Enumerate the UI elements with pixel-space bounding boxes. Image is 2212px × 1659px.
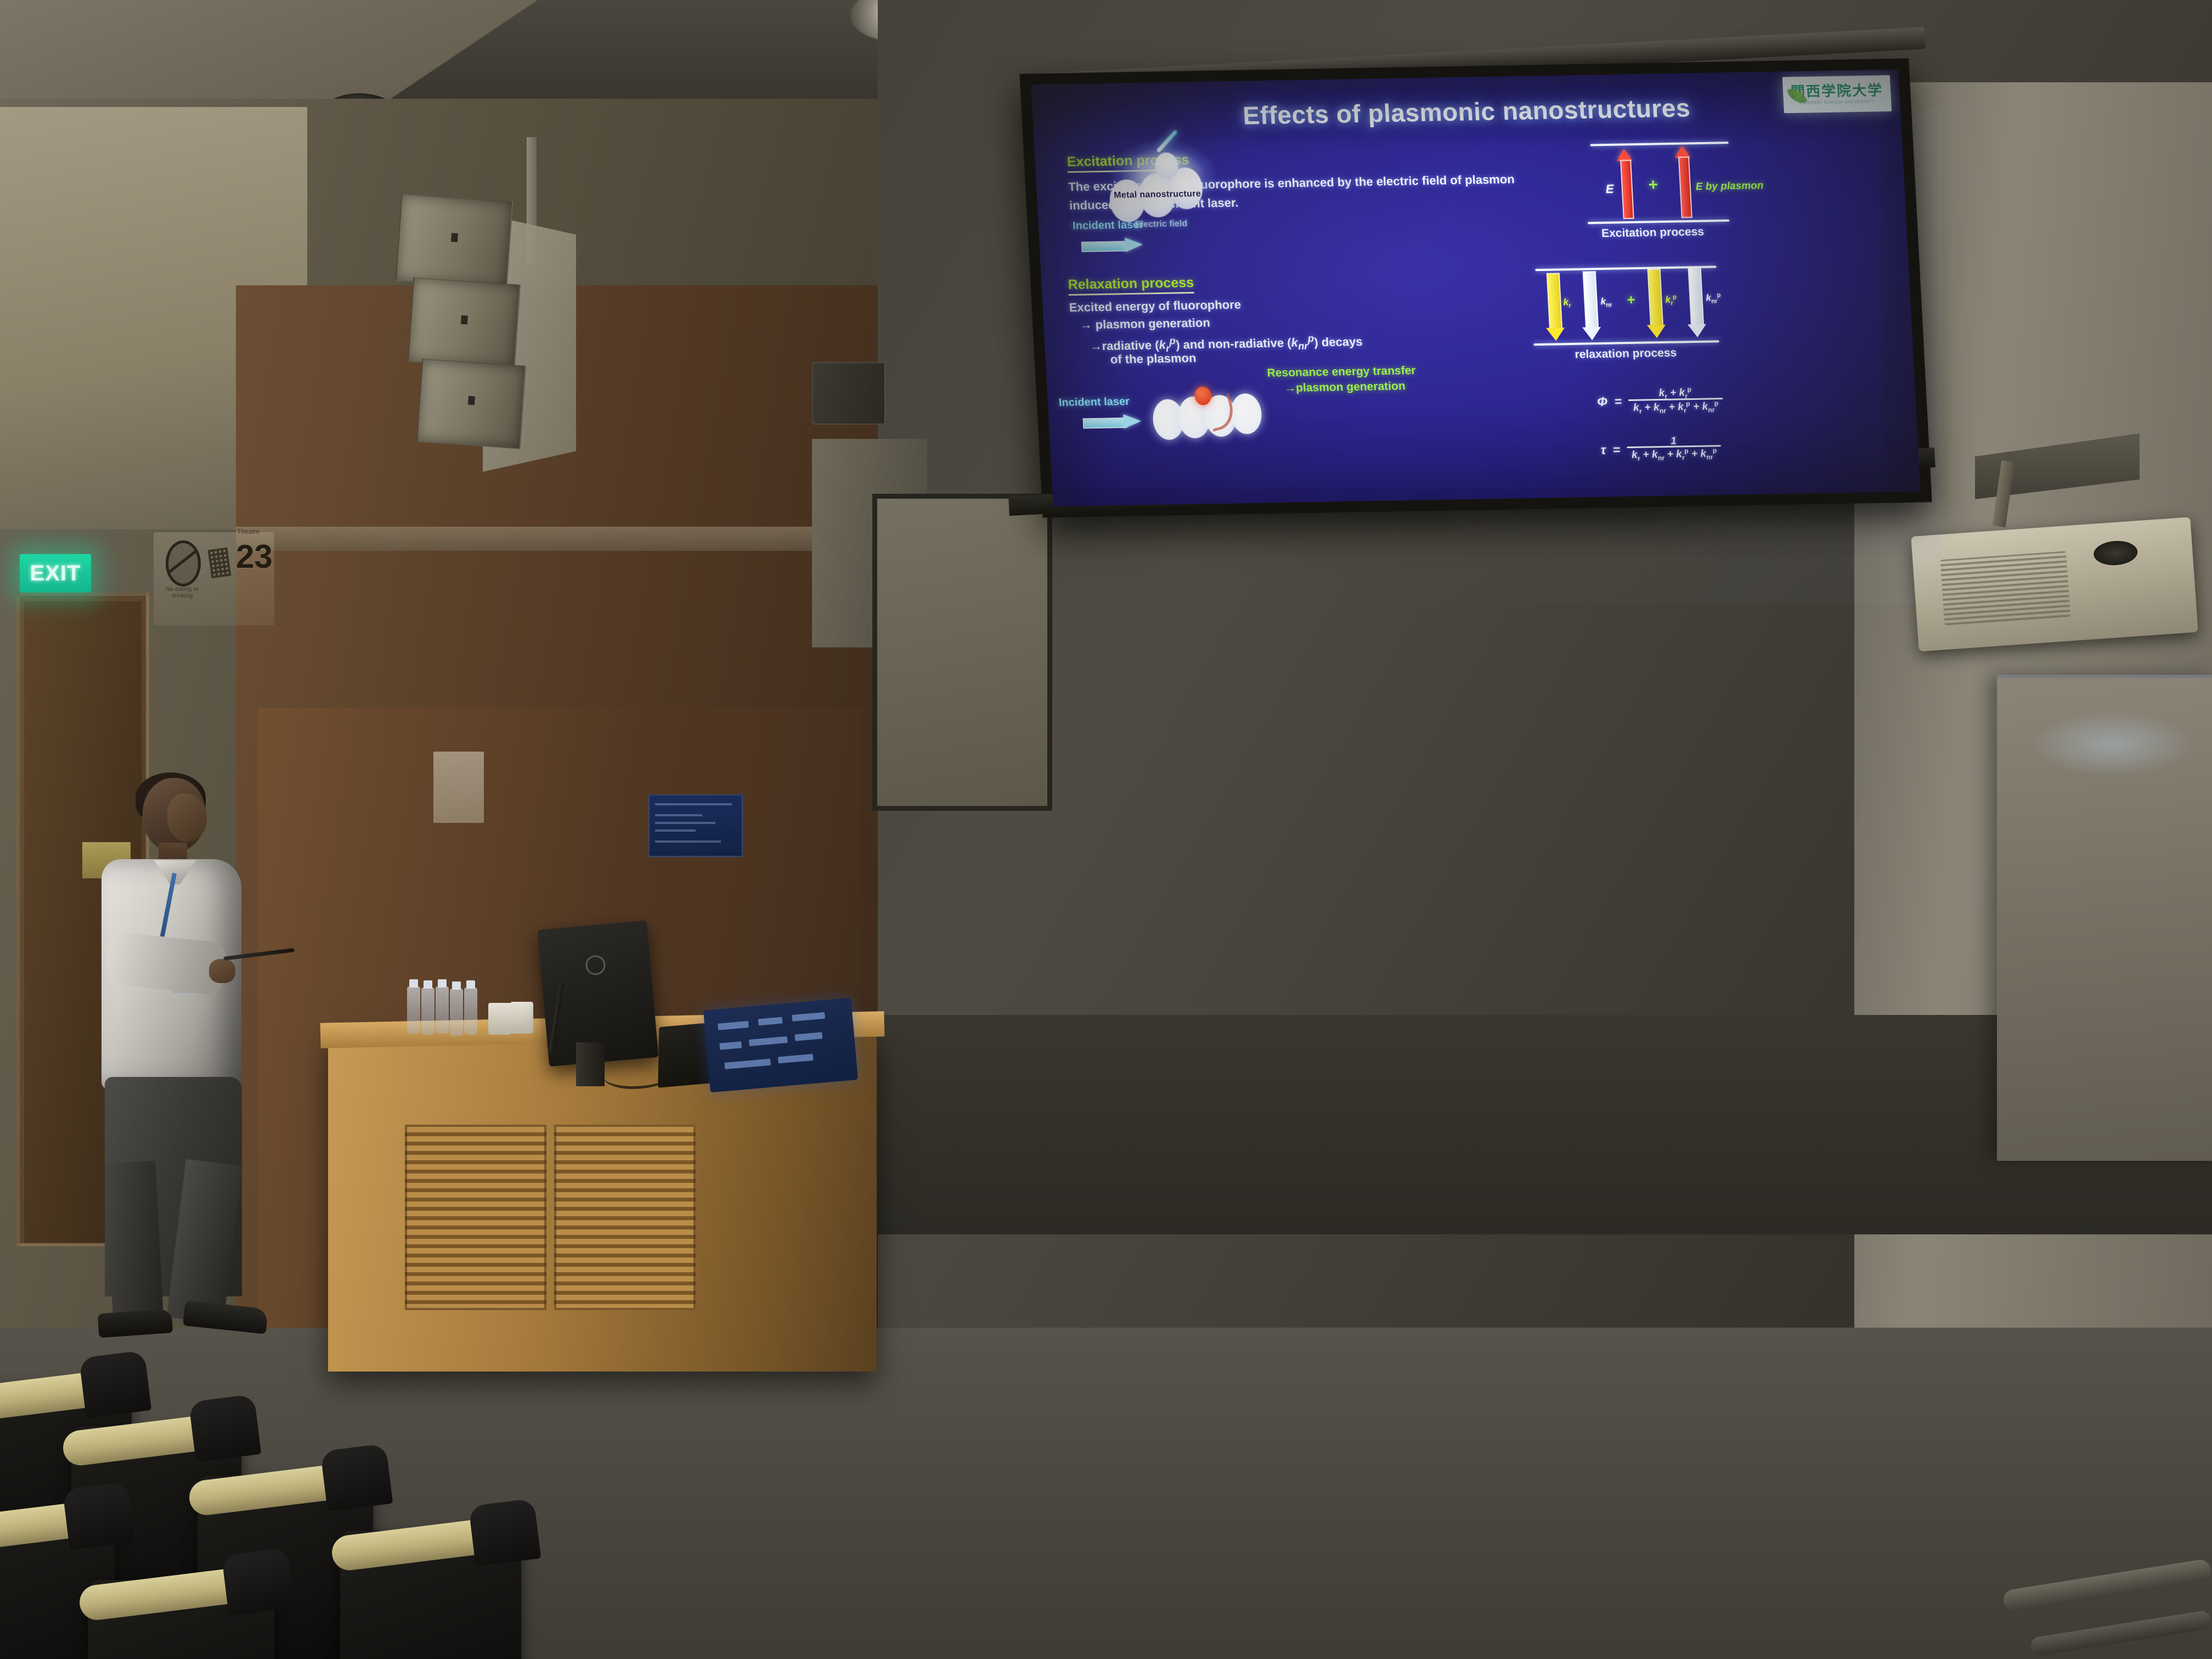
- relaxation-body-line4: of the plasmon: [1110, 349, 1197, 369]
- rate-label-kr: kr: [1563, 297, 1571, 309]
- electric-field-label: Electric field: [1135, 219, 1188, 230]
- incident-laser-arrow: [1081, 238, 1143, 253]
- presenter-leg-back: [105, 1161, 164, 1328]
- presenter: [101, 778, 288, 1338]
- projector-lens-icon: [2093, 539, 2138, 566]
- presentation-slide: 関西学院大学 KWANSEI GAKUIN UNIVERSITY Effects…: [1031, 70, 1920, 507]
- exit-sign: EXIT: [20, 554, 91, 592]
- cup-stack[interactable]: [488, 1003, 511, 1035]
- quantum-yield-equals: =: [1614, 394, 1622, 409]
- decay-arrow-knr-plasmon: [1685, 267, 1707, 337]
- relaxation-body-line1: Excited energy of fluorophore: [1069, 296, 1242, 316]
- blue-information-sign: [648, 794, 743, 857]
- decay-arrow-kr-plasmon: [1644, 269, 1667, 338]
- auditorium-seat: [88, 1580, 274, 1659]
- speaker-driver: [468, 396, 475, 405]
- relaxation-heading: Relaxation process: [1068, 275, 1194, 296]
- ceiling-projector: [1911, 517, 2198, 651]
- water-bottle[interactable]: [464, 988, 477, 1035]
- presenter-hand: [209, 959, 235, 983]
- ret-line2: →plasmon generation: [1284, 379, 1406, 396]
- relaxation-plus-sign: +: [1627, 291, 1636, 308]
- lifetime-denominator: kr + knr + krp + knrp: [1627, 445, 1722, 461]
- no-eating-label: No eating or drinking: [158, 586, 206, 599]
- wall-mounted-speaker: [812, 362, 885, 425]
- speaker-driver: [461, 315, 468, 325]
- presenter-shoe-front: [183, 1300, 268, 1334]
- decay-arrow-knr: [1579, 271, 1602, 340]
- metal-nanostructure-label: Metal nanostructure: [1114, 189, 1201, 201]
- exit-sign-label: EXIT: [30, 561, 81, 586]
- ceiling-speaker-cabinet: [416, 359, 526, 449]
- presenter-face: [167, 793, 207, 842]
- ret-particle: [1229, 393, 1262, 435]
- water-bottle[interactable]: [450, 989, 463, 1036]
- av-control-panel[interactable]: [703, 998, 858, 1093]
- excitation-label-E-by-plasmon: E by plasmon: [1695, 178, 1764, 195]
- rate-label-knr-plasmon: knrp: [1706, 292, 1721, 304]
- cup-stack[interactable]: [510, 1002, 533, 1034]
- rate-label-knr: knr: [1600, 296, 1612, 309]
- ground-state-level: [1588, 219, 1729, 224]
- quantum-yield-fraction: kr + krp kr + knr + krp + knrp: [1628, 385, 1723, 415]
- wall-trim-strip: [236, 527, 883, 551]
- lifetime-formula: τ = 1 kr + knr + krp + knrp: [1600, 435, 1722, 463]
- rate-label-kr-plasmon: krp: [1665, 294, 1677, 307]
- relaxation-incident-laser-label: Incident laser: [1058, 396, 1130, 409]
- auditorium-seat: [340, 1531, 521, 1659]
- excitation-arrow-E: [1618, 149, 1634, 219]
- room-number: 23: [236, 540, 273, 573]
- excitation-plus-sign: +: [1648, 176, 1658, 194]
- excitation-arrow-E-plasmon: [1676, 145, 1692, 218]
- water-bottle[interactable]: [436, 986, 449, 1034]
- relaxation-body-line2: → plasmon generation: [1080, 314, 1211, 334]
- phone-icon: [208, 548, 232, 579]
- quantum-yield-symbol: Φ: [1596, 394, 1607, 409]
- relaxation-laser-arrow: [1082, 414, 1141, 430]
- excitation-diagram-caption: Excitation process: [1601, 225, 1705, 240]
- monitor-stand: [576, 1042, 605, 1086]
- room-caption: Theatre: [237, 528, 259, 535]
- lifetime-symbol: τ: [1600, 442, 1606, 457]
- ceiling-speaker-cabinet: [396, 194, 513, 289]
- excitation-label-E: E: [1605, 182, 1614, 196]
- water-bottle[interactable]: [421, 988, 435, 1035]
- lectern-louvre-panel: [554, 1125, 696, 1310]
- water-bottle[interactable]: [407, 986, 420, 1034]
- projector-vent: [1940, 551, 2070, 625]
- presenter-shoe-back: [98, 1308, 173, 1338]
- quantum-yield-denominator: kr + knr + krp + knrp: [1628, 398, 1723, 414]
- whiteboard-left: [872, 494, 1052, 811]
- excited-state-level: [1590, 142, 1729, 146]
- monitor-brand-icon: [585, 955, 606, 976]
- lifetime-equals: =: [1612, 442, 1621, 457]
- ceiling-speaker-cabinet: [408, 277, 521, 369]
- whiteboard-glare: [2030, 711, 2194, 777]
- speaker-driver: [451, 233, 458, 242]
- whiteboard-right: [1997, 675, 2212, 1161]
- slide-title: Effects of plasmonic nanostructures: [1032, 89, 1901, 134]
- decay-arrow-kr: [1543, 273, 1566, 341]
- wall-poster: [433, 752, 484, 823]
- lectern-louvre-panel: [405, 1125, 546, 1310]
- no-eating-icon: [166, 540, 201, 586]
- relaxation-diagram-caption: relaxation process: [1575, 347, 1677, 362]
- quantum-yield-formula: Φ = kr + krp kr + knr + krp + knrp: [1596, 385, 1723, 416]
- lifetime-fraction: 1 kr + knr + krp + knrp: [1626, 435, 1722, 462]
- lecture-hall-photo: EXIT No eating or drinking Theatre 23: [0, 0, 2212, 1659]
- relaxation-lower-level: [1533, 340, 1719, 346]
